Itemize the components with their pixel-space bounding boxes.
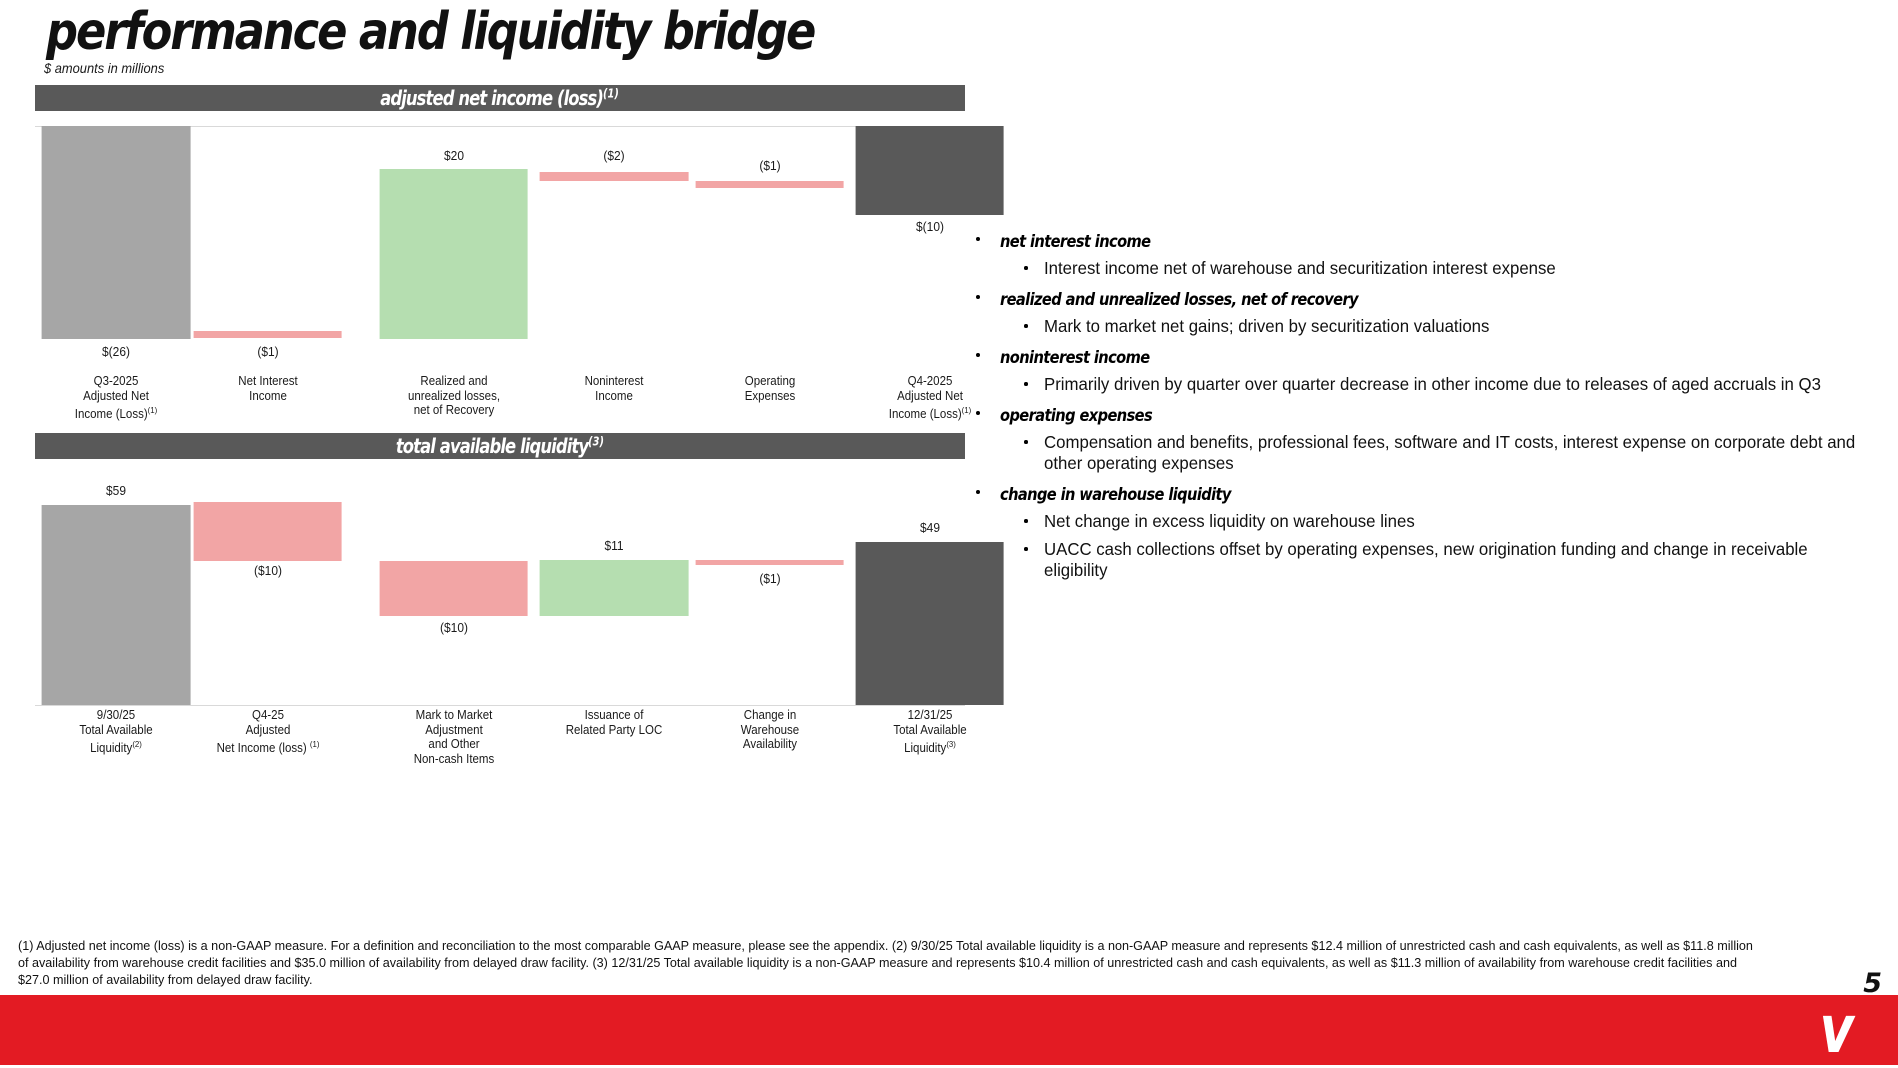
category-label-6: Q4-2025Adjusted Net Income (Loss)(1) (885, 374, 975, 422)
category-label-6: 12/31/25Total AvailableLiquidity(3) (890, 708, 970, 756)
bar-1 (42, 505, 191, 705)
commentary-heading: net interest income (968, 232, 1898, 252)
commentary-heading-label: realized and unrealized losses, net of r… (1000, 290, 1358, 310)
category-label-5: Change inWarehouseAvailability (738, 708, 801, 752)
commentary-heading: noninterest income (968, 348, 1898, 368)
commentary-heading-label: net interest income (1000, 232, 1150, 252)
bar-6 (855, 126, 1004, 215)
category-label-4: Issuance ofRelated Party LOC (562, 708, 667, 737)
chart2-axis-bottom (35, 705, 965, 706)
page-title: performance and liquidity bridge (46, 2, 814, 62)
bar-3 (379, 169, 528, 339)
category-label-1: Q3-2025Adjusted Net Income (Loss)(1) (71, 374, 161, 422)
bar-value-label-2: ($10) (252, 563, 282, 578)
category-label-2: Net InterestIncome (235, 374, 300, 403)
bar-2 (193, 331, 342, 338)
sub-bullet-dot-icon (1024, 519, 1028, 523)
bar-value-label-2: ($1) (256, 344, 279, 359)
bullet-dot-icon (976, 353, 980, 357)
commentary-item-label: Interest income net of warehouse and sec… (1044, 258, 1862, 279)
bar-value-label-1: $(26) (101, 344, 131, 359)
sub-bullet-dot-icon (1024, 440, 1028, 444)
footer-bar: v (0, 995, 1898, 1065)
category-label-5: OperatingExpenses (742, 374, 797, 403)
commentary-item: Compensation and benefits, professional … (968, 432, 1896, 474)
bar-value-label-3: $20 (443, 148, 465, 163)
bar-2 (193, 502, 342, 561)
bar-5 (695, 181, 844, 188)
chart1-category-labels: Q3-2025Adjusted Net Income (Loss)(1)Net … (35, 374, 965, 424)
commentary-item-label: Net change in excess liquidity on wareho… (1044, 511, 1862, 532)
commentary-item: Mark to market net gains; driven by secu… (968, 316, 1896, 337)
bar-3 (379, 561, 528, 616)
bar-4 (540, 172, 689, 181)
commentary-item-label: Compensation and benefits, professional … (1044, 432, 1862, 474)
commentary-group: change in warehouse liquidityNet change … (968, 485, 1898, 581)
commentary-panel: net interest incomeInterest income net o… (968, 232, 1898, 592)
bullet-dot-icon (976, 237, 980, 241)
commentary-group: net interest incomeInterest income net o… (968, 232, 1898, 279)
category-label-3: Mark to MarketAdjustmentand OtherNon-cas… (410, 708, 498, 766)
sub-bullet-dot-icon (1024, 266, 1028, 270)
company-logo: v (1820, 997, 1854, 1063)
bar-value-label-4: ($2) (603, 148, 626, 163)
sub-bullet-dot-icon (1024, 547, 1028, 551)
bar-value-label-6: $(10) (914, 219, 944, 234)
bar-5 (695, 560, 844, 565)
bullet-dot-icon (976, 411, 980, 415)
bar-1 (42, 126, 191, 339)
chart-total-available-liquidity: $59($10)($10)$11($1)$49 (35, 481, 965, 705)
banner-adjusted-net-income-label: adjusted net income (loss)(1) (381, 86, 620, 110)
page-subtitle: $ amounts in millions (44, 60, 164, 76)
bar-4 (540, 560, 689, 616)
commentary-heading-label: operating expenses (1000, 406, 1152, 426)
commentary-item-label: Mark to market net gains; driven by secu… (1044, 316, 1862, 337)
banner-adjusted-net-income: adjusted net income (loss)(1) (35, 85, 965, 111)
bar-value-label-5: ($1) (758, 571, 781, 586)
commentary-item: Interest income net of warehouse and sec… (968, 258, 1896, 279)
commentary-group: realized and unrealized losses, net of r… (968, 290, 1898, 337)
commentary-group: operating expensesCompensation and benef… (968, 406, 1898, 474)
bar-value-label-5: ($1) (758, 158, 781, 173)
bar-value-label-4: $11 (604, 538, 625, 553)
category-label-4: NoninterestIncome (582, 374, 646, 403)
banner-total-available-liquidity: total available liquidity(3) (35, 433, 965, 459)
sub-bullet-dot-icon (1024, 382, 1028, 386)
bullet-dot-icon (976, 490, 980, 494)
commentary-item-label: Primarily driven by quarter over quarter… (1044, 374, 1862, 395)
category-label-1: 9/30/25Total AvailableLiquidity(2) (76, 708, 156, 756)
category-label-2: Q4-25AdjustedNet Income (loss) (1) (212, 708, 324, 756)
commentary-item: UACC cash collections offset by operatin… (968, 539, 1896, 581)
bullet-dot-icon (976, 295, 980, 299)
commentary-heading: operating expenses (968, 406, 1898, 426)
bar-value-label-3: ($10) (438, 620, 468, 635)
bar-value-label-1: $59 (105, 483, 127, 498)
category-label-3: Realized andunrealized losses,net of Rec… (403, 374, 503, 418)
banner-total-available-liquidity-label: total available liquidity(3) (396, 434, 604, 458)
commentary-heading: change in warehouse liquidity (968, 485, 1898, 505)
chart2-category-labels: 9/30/25Total AvailableLiquidity(2)Q4-25A… (35, 708, 965, 763)
commentary-heading-label: noninterest income (1000, 348, 1150, 368)
bar-value-label-6: $49 (919, 520, 941, 535)
footnote: (1) Adjusted net income (loss) is a non-… (18, 938, 1763, 989)
sub-bullet-dot-icon (1024, 324, 1028, 328)
commentary-group: noninterest incomePrimarily driven by qu… (968, 348, 1898, 395)
slide: performance and liquidity bridge $ amoun… (0, 0, 1898, 1065)
commentary-heading-label: change in warehouse liquidity (1000, 485, 1231, 505)
commentary-item: Primarily driven by quarter over quarter… (968, 374, 1896, 395)
chart-adjusted-net-income: $(26)($1)$20($2)($1)$(10) (35, 126, 965, 376)
commentary-item-label: UACC cash collections offset by operatin… (1044, 539, 1862, 581)
commentary-item: Net change in excess liquidity on wareho… (968, 511, 1896, 532)
commentary-heading: realized and unrealized losses, net of r… (968, 290, 1898, 310)
